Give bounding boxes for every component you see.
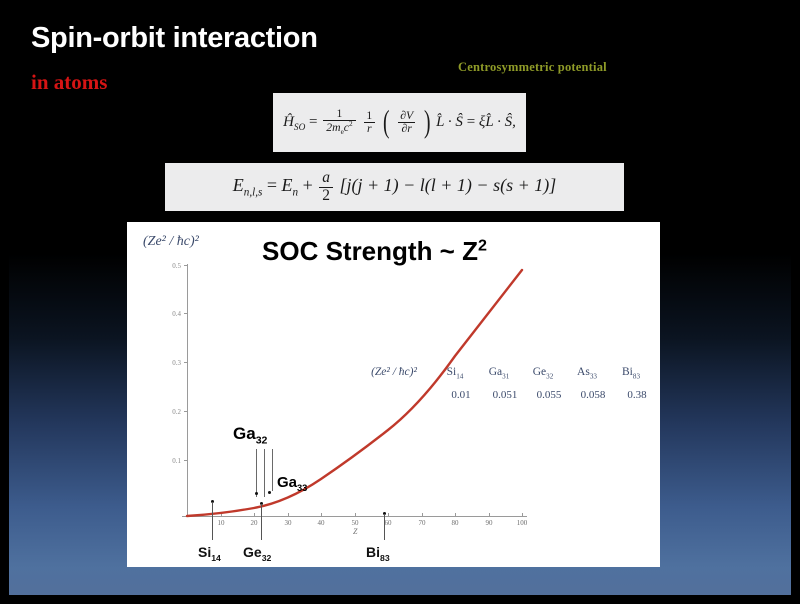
x-tick-mark xyxy=(489,513,490,516)
energy-levels-formula: En,l,s = En + a 2 [j(j + 1) − l(l + 1) −… xyxy=(165,163,624,211)
x-tick-label-70: 70 xyxy=(414,519,430,527)
x-tick-label-10: 10 xyxy=(213,519,229,527)
element-pin-ge xyxy=(261,504,262,540)
formula2-equals: = xyxy=(267,175,277,195)
formula2-e-sub: n,l,s xyxy=(244,187,263,199)
formula2-den: 2 xyxy=(319,187,333,204)
table-header-bi: Bi83 xyxy=(609,366,653,380)
table-value-bi: 0.38 xyxy=(615,389,659,401)
formula1-den1: 2mec2 xyxy=(323,120,355,137)
y-axis-caption: (Ze² / ħc)² xyxy=(143,234,199,250)
element-soc-table: (Ze² / ħc)²Si14Ga31Ge32As33Bi83 0.010.05… xyxy=(355,366,659,401)
x-tick-mark xyxy=(388,513,389,516)
formula1-fraction-2: 1 r xyxy=(363,110,375,136)
formula2-num: a xyxy=(319,170,333,186)
table-value-si: 0.01 xyxy=(439,389,483,401)
table-value-ge: 0.055 xyxy=(527,389,571,401)
formula1-den2: r xyxy=(364,122,375,135)
x-tick-label-60: 60 xyxy=(380,519,396,527)
y-tick-mark xyxy=(184,265,188,266)
x-tick-mark xyxy=(522,513,523,516)
data-point-ge xyxy=(255,492,258,495)
table-value-row: 0.010.0510.0550.0580.38 xyxy=(439,389,659,401)
formula2-bracket: [j(j + 1) − l(l + 1) − s(s + 1)] xyxy=(340,175,557,195)
y-tick-label-0.2: 0.2 xyxy=(159,408,181,416)
annotation-leader-line xyxy=(264,449,265,497)
annotation-leader-line xyxy=(272,449,273,491)
formula1-l-dot-s: L̂ · Ŝ xyxy=(436,114,463,130)
x-tick-mark xyxy=(455,513,456,516)
page-title: Spin-orbit interaction xyxy=(31,23,318,53)
table-header-ga: Ga31 xyxy=(477,366,521,380)
element-label-si: Si14 xyxy=(198,544,221,563)
x-tick-label-90: 90 xyxy=(481,519,497,527)
formula1-equals-2: = xyxy=(467,114,475,130)
table-header-si: Si14 xyxy=(433,366,477,380)
table-header-row: (Ze² / ħc)²Si14Ga31Ge32As33Bi83 xyxy=(355,366,659,380)
x-axis-label: Z xyxy=(353,527,357,536)
x-tick-mark xyxy=(355,513,356,516)
right-paren-icon: ) xyxy=(424,111,431,134)
y-tick-mark xyxy=(184,313,188,314)
table-value-as: 0.058 xyxy=(571,389,615,401)
x-tick-label-40: 40 xyxy=(313,519,329,527)
y-axis-line xyxy=(187,264,188,516)
x-tick-mark xyxy=(254,513,255,516)
formula1-dv: ∂V xyxy=(397,110,416,122)
x-tick-mark xyxy=(221,513,222,516)
x-axis-line xyxy=(182,516,527,517)
element-label-ge: Ge32 xyxy=(243,544,271,563)
table-header-as: As33 xyxy=(565,366,609,380)
x-tick-label-80: 80 xyxy=(447,519,463,527)
element-label-bi: Bi83 xyxy=(366,544,390,563)
annotation-leader-line xyxy=(256,449,257,497)
x-tick-label-30: 30 xyxy=(280,519,296,527)
x-tick-label-100: 100 xyxy=(514,519,530,527)
element-pin-si xyxy=(212,502,213,540)
y-tick-label-0.4: 0.4 xyxy=(159,310,181,318)
centrosymmetric-potential-note: Centrosymmetric potential xyxy=(458,60,607,75)
y-tick-mark xyxy=(184,362,188,363)
left-paren-icon: ( xyxy=(383,111,390,134)
chart-heading: SOC Strength ~ Z2 xyxy=(262,236,487,267)
page-subtitle: in atoms xyxy=(31,70,107,95)
x-tick-mark xyxy=(422,513,423,516)
x-tick-mark xyxy=(288,513,289,516)
formula1-h-hat: Ĥ xyxy=(283,114,294,130)
annotation-ga32: Ga32 xyxy=(233,424,267,446)
x-tick-label-50: 50 xyxy=(347,519,363,527)
formula1-equals: = xyxy=(309,114,317,130)
formula1-fraction-1: 1 2mec2 xyxy=(323,108,355,137)
formula1-h-sub: SO xyxy=(294,123,305,133)
y-tick-label-0.3: 0.3 xyxy=(159,359,181,367)
table-header-ge: Ge32 xyxy=(521,366,565,380)
formula1-num2: 1 xyxy=(363,110,375,122)
formula1-num1: 1 xyxy=(334,108,346,120)
formula2-e: E xyxy=(233,175,244,195)
formula2-en-sub: n xyxy=(293,187,299,199)
y-tick-label-0.1: 0.1 xyxy=(159,457,181,465)
formula2-fraction: a 2 xyxy=(319,170,333,204)
table-row-label: (Ze² / ħc)² xyxy=(355,366,433,378)
formula2-plus: + xyxy=(303,175,313,195)
data-point-as xyxy=(268,491,271,494)
soc-hamiltonian-formula: ĤSO = 1 2mec2 1 r ( ∂V ∂r ) L̂ · Ŝ = ξL̂… xyxy=(273,93,526,152)
formula1-partial-derivative: ∂V ∂r xyxy=(397,110,416,136)
y-tick-mark xyxy=(184,460,188,461)
y-tick-label-0.5: 0.5 xyxy=(159,262,181,270)
annotation-ga33: Ga33 xyxy=(277,474,307,493)
formula1-l-dot-s-2: L̂ · Ŝ, xyxy=(485,114,516,130)
slide-canvas: Spin-orbit interaction in atoms Centrosy… xyxy=(0,0,800,604)
x-tick-label-20: 20 xyxy=(246,519,262,527)
formula2-en: E xyxy=(282,175,293,195)
element-pin-bi xyxy=(384,514,385,540)
table-value-ga: 0.051 xyxy=(483,389,527,401)
formula1-dr: ∂r xyxy=(398,122,414,135)
x-tick-mark xyxy=(321,513,322,516)
y-tick-mark xyxy=(184,411,188,412)
chart-panel: (Ze² / ħc)² SOC Strength ~ Z2 0.5 0.4 0.… xyxy=(127,222,660,567)
